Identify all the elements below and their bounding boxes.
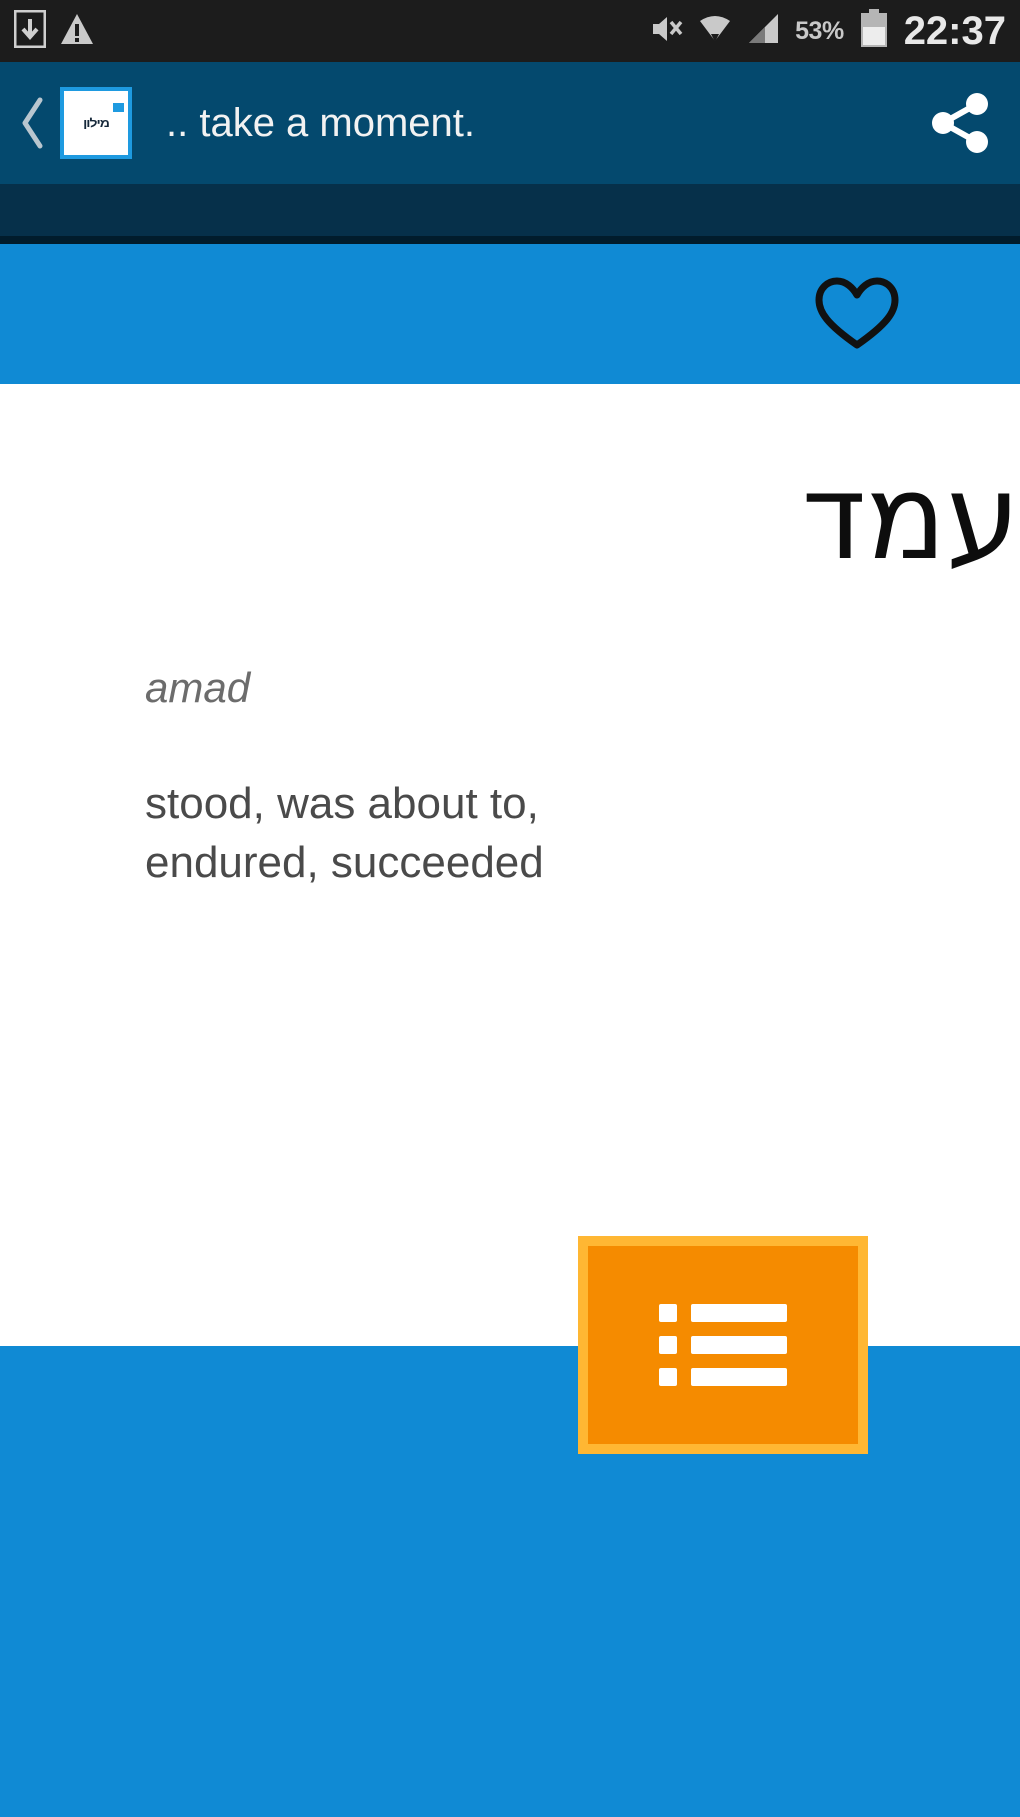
status-bar-clock: 22:37 [904, 0, 1006, 62]
app-icon-badge [113, 103, 124, 112]
sd-card-icon [14, 10, 46, 53]
warning-triangle-icon [60, 12, 94, 51]
list-line [691, 1336, 787, 1354]
cellular-signal-icon [747, 12, 781, 51]
entry-content: עמד amad stood, was about to, endured, s… [0, 384, 1020, 1184]
app-bar: מילון .. take a moment. [0, 62, 1020, 184]
back-chevron-icon[interactable] [10, 93, 56, 153]
app-launcher-icon[interactable]: מילון [60, 87, 132, 159]
list-line [691, 1368, 787, 1386]
list-bullet [659, 1304, 677, 1322]
share-icon[interactable] [920, 83, 1000, 163]
mute-icon [649, 12, 683, 51]
favorite-band [0, 244, 1020, 384]
list-button[interactable] [578, 1236, 868, 1454]
app-bar-shadow-strip [0, 184, 1020, 236]
list-bullet [659, 1336, 677, 1354]
list-bullet [659, 1368, 677, 1386]
status-bar-right-icons: 53% 22:37 [649, 0, 1006, 62]
battery-percent-label: 53% [795, 17, 844, 46]
page-title: .. take a moment. [166, 101, 475, 146]
list-line [691, 1304, 787, 1322]
battery-icon [858, 9, 890, 54]
hebrew-word: עמד [145, 384, 1020, 592]
app-icon-label: מילון [83, 116, 109, 130]
list-icon [659, 1304, 787, 1386]
status-bar: 53% 22:37 [0, 0, 1020, 62]
list-icon-row [659, 1336, 787, 1354]
transliteration: amad [145, 664, 1020, 712]
wifi-icon [697, 12, 733, 51]
list-icon-row [659, 1304, 787, 1322]
heart-outline-icon[interactable] [809, 266, 905, 362]
list-icon-row [659, 1368, 787, 1386]
status-bar-left-icons [14, 10, 94, 53]
definition-text: stood, was about to, endured, succeeded [145, 774, 715, 893]
app-bar-shadow-edge [0, 236, 1020, 244]
